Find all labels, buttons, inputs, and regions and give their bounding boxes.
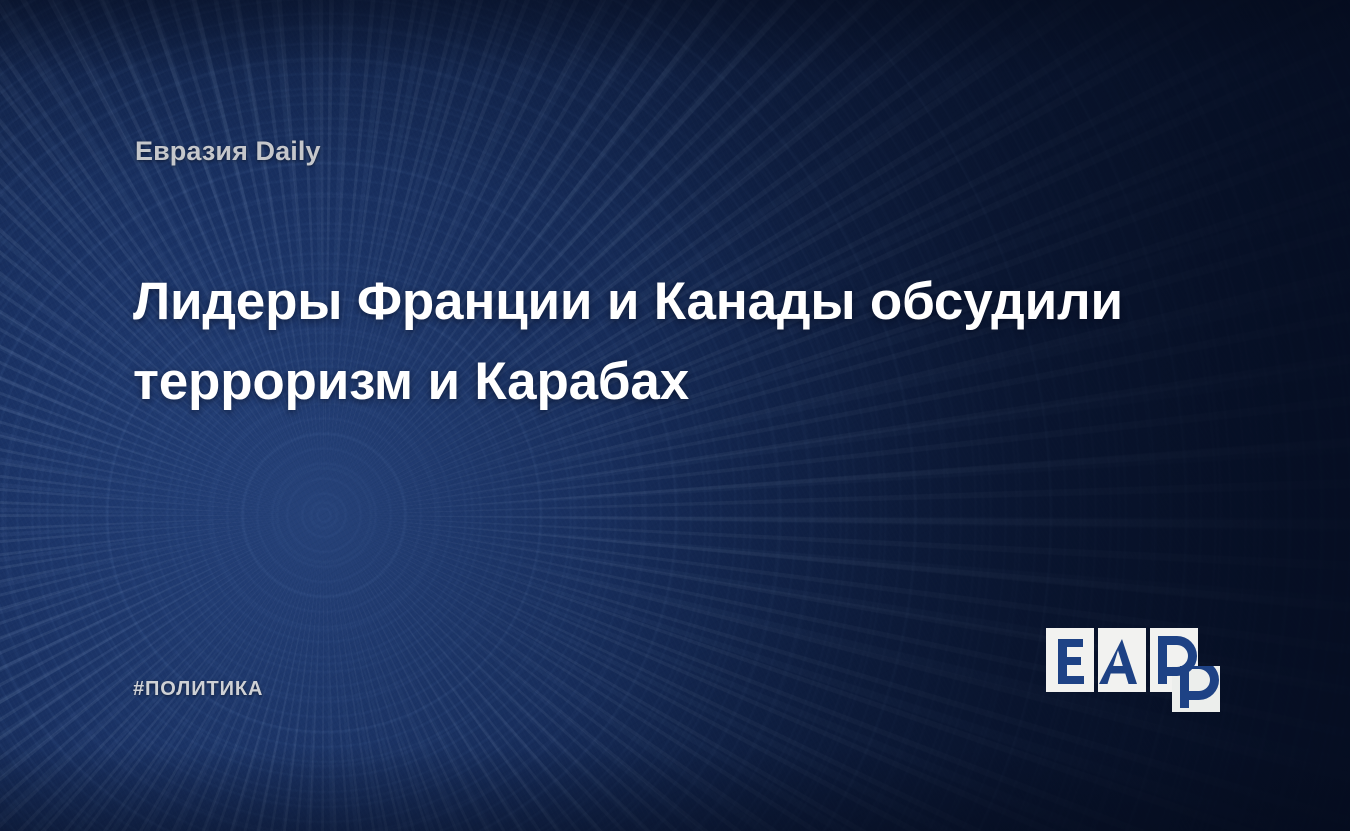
ead-logo-mark	[1046, 628, 1226, 718]
ead-logo	[1046, 628, 1226, 718]
news-share-card: Евразия Daily Лидеры Франции и Канады об…	[0, 0, 1350, 831]
brand-name: Евразия Daily	[135, 136, 321, 167]
category-tag[interactable]: #ПОЛИТИКА	[133, 678, 263, 701]
headline-title: Лидеры Франции и Канады обсудили террори…	[133, 262, 1173, 422]
logo-letter-e-glyph	[1058, 639, 1084, 684]
card-content: Евразия Daily Лидеры Франции и Канады об…	[0, 0, 1350, 831]
